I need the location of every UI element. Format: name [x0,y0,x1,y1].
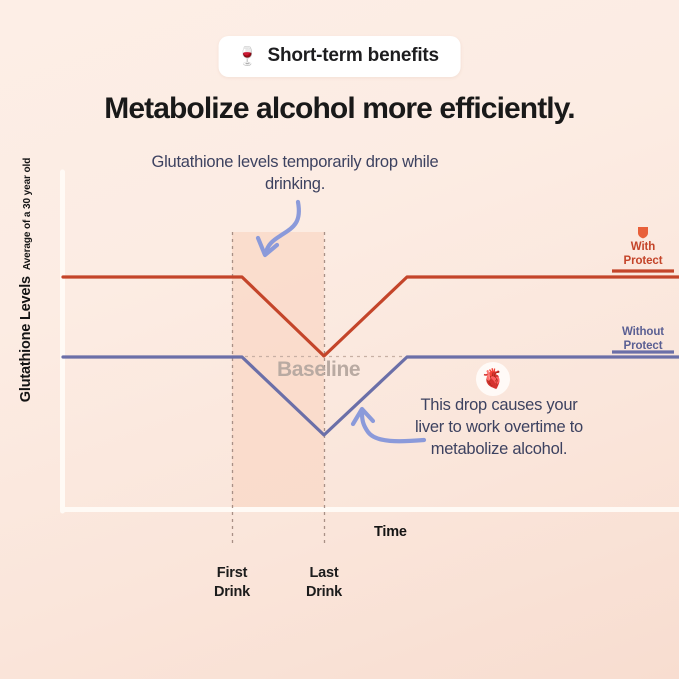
baseline-label: Baseline [277,358,360,381]
y-axis-label-main: Glutathione Levels [18,276,34,402]
x-tick-last-drink-line1: Last [269,564,379,583]
infographic-page: 🍷 Short-term benefits Metabolize alcohol… [0,0,679,679]
shield-icon [637,226,649,239]
y-axis-label-sub: Average of a 30 year old [22,158,33,270]
legend-without-protect-line2: Protect [612,340,674,354]
annotation-top-text: Glutathione levels temporarily drop whil… [150,152,440,196]
y-axis-label: Glutathione Levels Average of a 30 year … [18,190,34,370]
x-tick-last-drink-line2: Drink [269,583,379,602]
annotation-right-text: This drop causes your liver to work over… [408,395,590,460]
legend-with-protect: With Protect [612,226,674,269]
legend-with-protect-line1: With [612,241,674,255]
legend-with-protect-line2: Protect [612,255,674,269]
legend-without-protect-line1: Without [612,326,674,340]
x-tick-last-drink: Last Drink [269,564,379,601]
legend-without-protect: Without Protect [612,326,674,354]
with-protect-line [63,277,679,356]
x-axis-label: Time [374,524,407,540]
liver-icon: 🫀 [476,362,510,396]
